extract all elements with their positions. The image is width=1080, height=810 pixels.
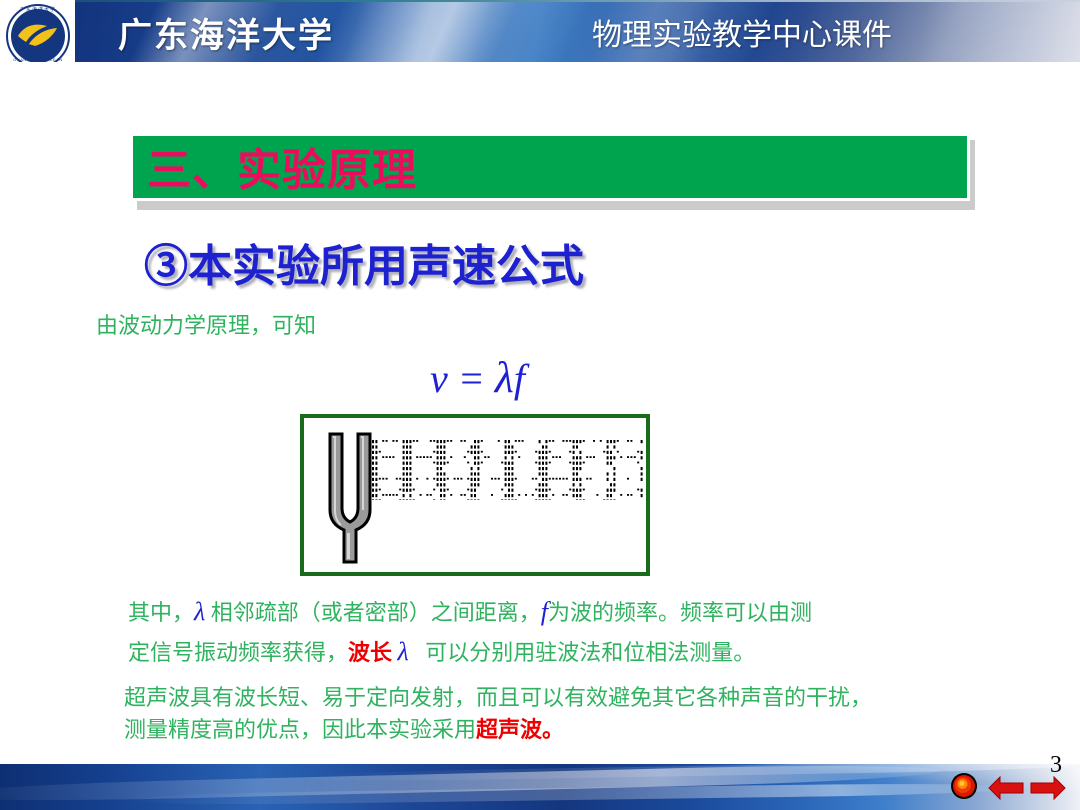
p1-line2-text-b: 可以分别用驻波法和位相法测量。 xyxy=(425,640,755,665)
tuning-fork-icon xyxy=(324,430,376,566)
slide-footer xyxy=(0,764,1080,810)
slide-header: 广东海洋大学 GUANGDONG OCEAN UNIVERSITY 广东海洋大学… xyxy=(0,0,1080,62)
paragraph-2-line-1: 超声波具有波长短、易于定向发射，而且可以有效避免其它各种声音的干扰， xyxy=(124,683,872,713)
paragraph-2-line-2: 测量精度高的优点，因此本实验采用超声波。 xyxy=(124,715,564,745)
p1-line2-lambda-symbol: λ xyxy=(398,637,409,666)
formula-f: f xyxy=(514,356,525,401)
logo-text-english: GUANGDONG OCEAN UNIVERSITY xyxy=(4,57,72,62)
university-logo: 广东海洋大学 GUANGDONG OCEAN UNIVERSITY xyxy=(4,2,72,62)
next-slide-arrow-icon[interactable] xyxy=(1030,776,1066,800)
menu-sphere-icon[interactable] xyxy=(950,772,978,800)
page-number: 3 xyxy=(1050,752,1062,779)
section-title-bar: 三、实验原理 xyxy=(130,133,970,201)
tuning-fork-figure xyxy=(300,414,650,576)
p1-text-b: 相邻疏部（或者密部）之间距离， xyxy=(211,600,541,625)
p2-line2-text-b: 。 xyxy=(542,717,564,742)
p2-line2-text-a: 测量精度高的优点，因此本实验采用 xyxy=(124,717,476,742)
header-university-name: 广东海洋大学 xyxy=(118,8,334,57)
p2-highlight-ultrasonic: 超声波 xyxy=(476,717,542,742)
paragraph-1-line-1: 其中，λ 相邻疏部（或者密部）之间距离，f为波的频率。频率可以由测 xyxy=(128,597,812,628)
previous-slide-arrow-icon[interactable] xyxy=(988,776,1024,800)
formula-v: v xyxy=(430,356,448,401)
intro-line: 由波动力学原理，可知 xyxy=(96,308,316,340)
logo-text-chinese: 广东海洋大学 xyxy=(4,6,72,13)
p1-text-c: 为波的频率。频率可以由测 xyxy=(548,600,812,625)
formula-lambda: λ xyxy=(495,353,514,402)
p1-text-a: 其中， xyxy=(128,600,194,625)
p1-line2-text-a: 定信号振动频率获得， xyxy=(128,640,348,665)
formula-equals: = xyxy=(458,356,485,401)
sound-wave-dot-field xyxy=(372,440,644,500)
p1-highlight-wavelength: 波长 xyxy=(348,640,392,665)
p1-lambda-symbol: λ xyxy=(194,597,205,626)
sound-speed-formula: v = λf xyxy=(430,352,525,403)
subsection-heading: ③本实验所用声速公式 xyxy=(144,230,584,294)
paragraph-1-line-2: 定信号振动频率获得，波长 λ 可以分别用驻波法和位相法测量。 xyxy=(128,637,755,668)
p1-f-symbol: f xyxy=(541,597,548,626)
section-title-text: 三、实验原理 xyxy=(147,134,417,198)
header-courseware-name: 物理实验教学中心课件 xyxy=(592,10,892,54)
logo-wave-icon xyxy=(17,22,59,48)
header-top-rule xyxy=(75,0,1080,2)
